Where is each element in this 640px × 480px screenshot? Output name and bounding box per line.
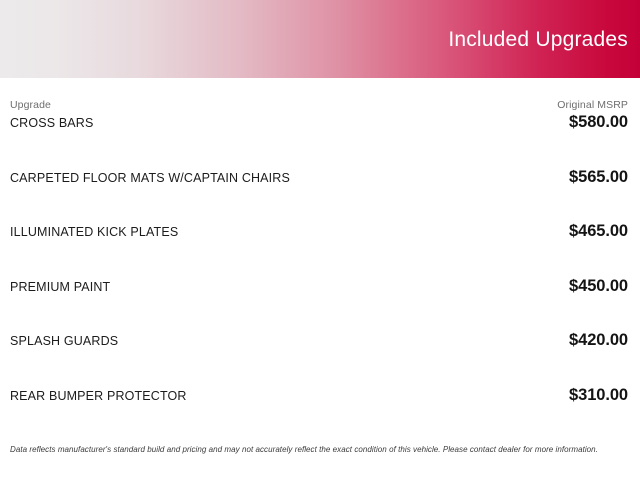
upgrade-msrp: $465.00 <box>569 223 628 240</box>
upgrade-msrp: $580.00 <box>569 114 628 131</box>
upgrade-name: SPLASH GUARDS <box>10 335 118 348</box>
upgrade-msrp: $420.00 <box>569 332 628 349</box>
page-title: Included Upgrades <box>448 29 640 50</box>
upgrade-msrp: $565.00 <box>569 169 628 186</box>
table-row: PREMIUM PAINT $450.00 <box>0 278 640 333</box>
upgrade-msrp: $450.00 <box>569 278 628 295</box>
table-row: CROSS BARS $580.00 <box>0 114 640 169</box>
table-column-headers: Upgrade Original MSRP <box>0 78 640 114</box>
upgrade-msrp: $310.00 <box>569 387 628 404</box>
upgrades-table: Upgrade Original MSRP CROSS BARS $580.00… <box>0 78 640 480</box>
table-row: REAR BUMPER PROTECTOR $310.00 <box>0 387 640 442</box>
table-row: CARPETED FLOOR MATS W/CAPTAIN CHAIRS $56… <box>0 169 640 224</box>
disclaimer-text: Data reflects manufacturer's standard bu… <box>0 441 640 455</box>
upgrade-name: REAR BUMPER PROTECTOR <box>10 390 187 403</box>
upgrade-name: PREMIUM PAINT <box>10 281 110 294</box>
upgrade-name: CARPETED FLOOR MATS W/CAPTAIN CHAIRS <box>10 172 290 185</box>
table-rows: CROSS BARS $580.00 CARPETED FLOOR MATS W… <box>0 114 640 441</box>
page-header-banner: Included Upgrades <box>0 0 640 78</box>
table-row: ILLUMINATED KICK PLATES $465.00 <box>0 223 640 278</box>
upgrade-name: ILLUMINATED KICK PLATES <box>10 226 178 239</box>
table-row: SPLASH GUARDS $420.00 <box>0 332 640 387</box>
included-upgrades-page: Included Upgrades Upgrade Original MSRP … <box>0 0 640 480</box>
column-header-upgrade: Upgrade <box>10 100 51 111</box>
upgrade-name: CROSS BARS <box>10 117 93 130</box>
column-header-original-msrp: Original MSRP <box>557 100 628 111</box>
